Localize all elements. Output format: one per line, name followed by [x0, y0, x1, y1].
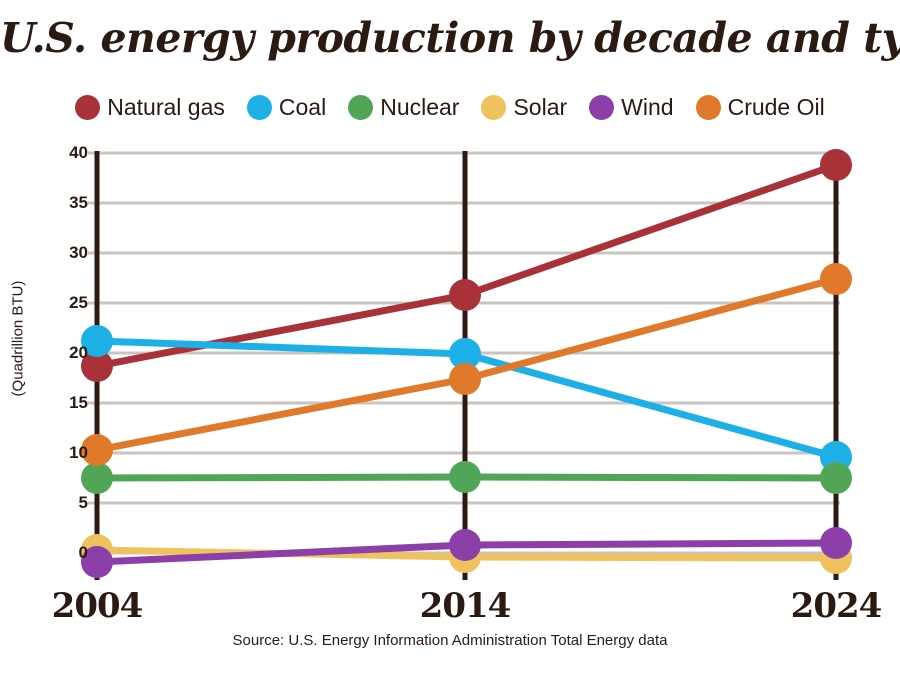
- data-point-nuclear-2024[interactable]: [820, 462, 852, 494]
- chart-container: U.S. energy production by decade and typ…: [0, 0, 900, 675]
- data-point-natural-gas-2024[interactable]: [820, 149, 852, 181]
- x-tick-label-2014: 2014: [420, 586, 511, 626]
- data-point-crude-oil-2024[interactable]: [820, 263, 852, 295]
- data-point-wind-2024[interactable]: [820, 527, 852, 559]
- data-point-crude-oil-2014[interactable]: [449, 363, 481, 395]
- y-tick-label: 15: [69, 393, 88, 413]
- y-axis-tick-labels: 0510152025303540: [38, 0, 88, 675]
- data-point-wind-2014[interactable]: [449, 529, 481, 561]
- y-tick-label: 20: [69, 343, 88, 363]
- y-tick-label: 40: [69, 143, 88, 163]
- y-tick-label: 25: [69, 293, 88, 313]
- y-tick-label: 0: [79, 543, 88, 563]
- data-point-nuclear-2014[interactable]: [449, 461, 481, 493]
- y-axis-title: (Quadrillion BTU): [10, 259, 27, 419]
- x-tick-label-2024: 2024: [791, 586, 882, 626]
- y-tick-label: 5: [79, 493, 88, 513]
- y-tick-label: 10: [69, 443, 88, 463]
- data-point-natural-gas-2014[interactable]: [449, 279, 481, 311]
- plot-svg: [0, 0, 900, 675]
- source-note: Source: U.S. Energy Information Administ…: [0, 632, 900, 649]
- y-tick-label: 35: [69, 193, 88, 213]
- y-tick-label: 30: [69, 243, 88, 263]
- plot-area: 0510152025303540 (Quadrillion BTU) 20042…: [0, 0, 900, 675]
- x-tick-label-2004: 2004: [52, 586, 143, 626]
